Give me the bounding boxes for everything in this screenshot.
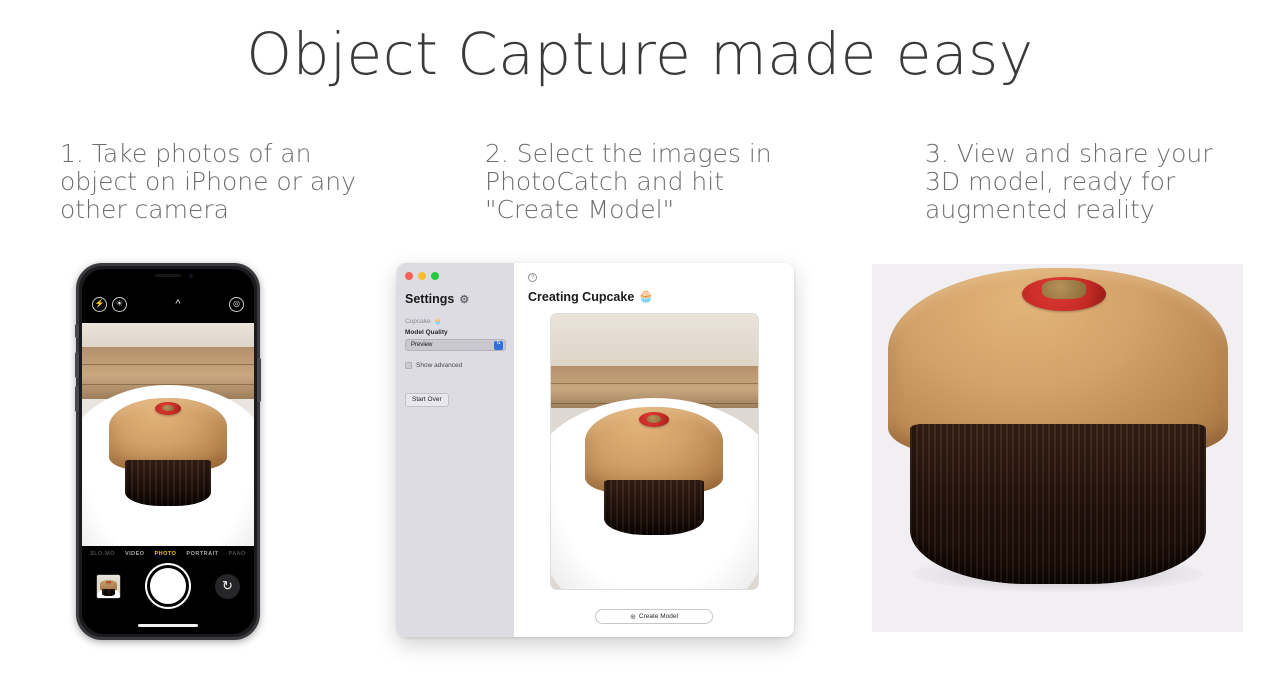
settings-heading-label: Settings xyxy=(405,292,454,306)
shutter-button[interactable] xyxy=(147,565,189,607)
preview-scene-wall xyxy=(551,314,758,366)
volume-up-button[interactable] xyxy=(75,352,79,378)
thumb-cupcake-wrapper xyxy=(102,589,115,596)
scene-wall xyxy=(82,323,254,347)
creating-title-emoji-icon: 🧁 xyxy=(638,289,654,304)
zoom-button[interactable] xyxy=(431,272,439,280)
camera-mode-video[interactable]: VIDEO xyxy=(125,551,145,557)
page-title: Object Capture made easy xyxy=(0,20,1280,88)
creating-title: Creating Cupcake 🧁 xyxy=(528,289,780,304)
help-icon[interactable]: ? xyxy=(528,273,537,282)
cupcake-candy-topper xyxy=(155,402,181,415)
camera-flip-icon[interactable] xyxy=(215,574,240,599)
window-traffic-lights xyxy=(405,272,506,280)
preview-cupcake-candy xyxy=(639,412,669,427)
thumb-cupcake-candy xyxy=(106,581,111,584)
show-advanced-label: Show advanced xyxy=(416,362,462,369)
close-button[interactable] xyxy=(405,272,413,280)
camera-top-controls: ⚡ ☀ ^ ◎ xyxy=(82,293,254,315)
show-advanced-row[interactable]: Show advanced xyxy=(405,362,506,369)
3d-model-viewer[interactable] xyxy=(872,264,1243,632)
create-model-button[interactable]: ⊕ Create Model xyxy=(595,609,713,624)
object-name-row: Cupcake 🧁 xyxy=(405,317,506,325)
cupcake-emoji-icon: 🧁 xyxy=(434,317,442,325)
notch xyxy=(131,269,205,285)
model-quality-select[interactable]: Preview ⇅ xyxy=(405,339,506,351)
camera-action-row xyxy=(82,564,254,608)
camera-mode-pano[interactable]: PANO xyxy=(228,551,245,557)
chevron-updown-icon[interactable]: ⇅ xyxy=(494,341,503,350)
last-photo-thumbnail[interactable] xyxy=(96,574,121,599)
start-over-button[interactable]: Start Over xyxy=(405,393,449,407)
gear-icon[interactable]: ⚙ xyxy=(459,293,469,306)
model-quality-label: Model Quality xyxy=(405,329,506,336)
chevron-up-icon[interactable]: ^ xyxy=(175,299,180,310)
camera-mode-selector[interactable]: SLO-MO VIDEO PHOTO PORTRAIT PANO xyxy=(82,551,254,557)
flash-icon[interactable]: ⚡ xyxy=(92,297,107,312)
3d-cupcake-model[interactable] xyxy=(888,274,1228,584)
night-mode-icon[interactable]: ☀ xyxy=(112,297,127,312)
step-3-caption: 3. View and share your 3D model, ready f… xyxy=(925,140,1215,224)
preview-cupcake xyxy=(585,407,723,535)
camera-mode-slo-mo[interactable]: SLO-MO xyxy=(90,551,115,557)
camera-bottom-bar: SLO-MO VIDEO PHOTO PORTRAIT PANO xyxy=(82,546,254,634)
model-quality-value: Preview xyxy=(411,342,432,348)
front-camera-icon xyxy=(189,274,193,278)
power-button[interactable] xyxy=(257,358,261,402)
minimize-button[interactable] xyxy=(418,272,426,280)
object-name-label: Cupcake xyxy=(405,318,431,325)
volume-down-button[interactable] xyxy=(75,386,79,412)
camera-viewfinder[interactable] xyxy=(82,323,254,558)
model-cupcake-candy xyxy=(1022,277,1106,311)
slide-root: Object Capture made easy 1. Take photos … xyxy=(0,0,1280,693)
preview-cupcake-wrapper xyxy=(604,480,704,535)
home-indicator xyxy=(138,624,198,627)
photocatch-window: Settings ⚙ Cupcake 🧁 Model Quality Previ… xyxy=(397,263,794,637)
create-model-icon: ⊕ xyxy=(630,613,636,621)
cupcake-wrapper xyxy=(125,460,211,506)
iphone-device: ⚡ ☀ ^ ◎ SLO-MO xyxy=(76,263,260,640)
mute-switch[interactable] xyxy=(75,324,79,338)
creating-title-label: Creating Cupcake xyxy=(528,290,634,304)
iphone-screen: ⚡ ☀ ^ ◎ SLO-MO xyxy=(82,269,254,634)
image-preview[interactable] xyxy=(550,313,759,590)
creating-panel: ? Creating Cupcake 🧁 ⊕ Create Model xyxy=(514,263,794,637)
show-advanced-checkbox[interactable] xyxy=(405,362,412,369)
create-model-label: Create Model xyxy=(639,613,678,620)
step-2-caption: 2. Select the images in PhotoCatch and h… xyxy=(485,140,775,224)
camera-mode-portrait[interactable]: PORTRAIT xyxy=(186,551,218,557)
earpiece-speaker xyxy=(155,274,181,277)
live-photo-off-icon[interactable]: ◎ xyxy=(229,297,244,312)
settings-sidebar: Settings ⚙ Cupcake 🧁 Model Quality Previ… xyxy=(397,263,514,637)
model-cupcake-wrapper xyxy=(910,424,1206,584)
thumb-cupcake xyxy=(100,580,117,596)
camera-mode-photo[interactable]: PHOTO xyxy=(155,551,177,557)
settings-heading: Settings ⚙ xyxy=(405,292,506,306)
cupcake-subject xyxy=(109,398,227,506)
step-1-caption: 1. Take photos of an object on iPhone or… xyxy=(60,140,360,224)
